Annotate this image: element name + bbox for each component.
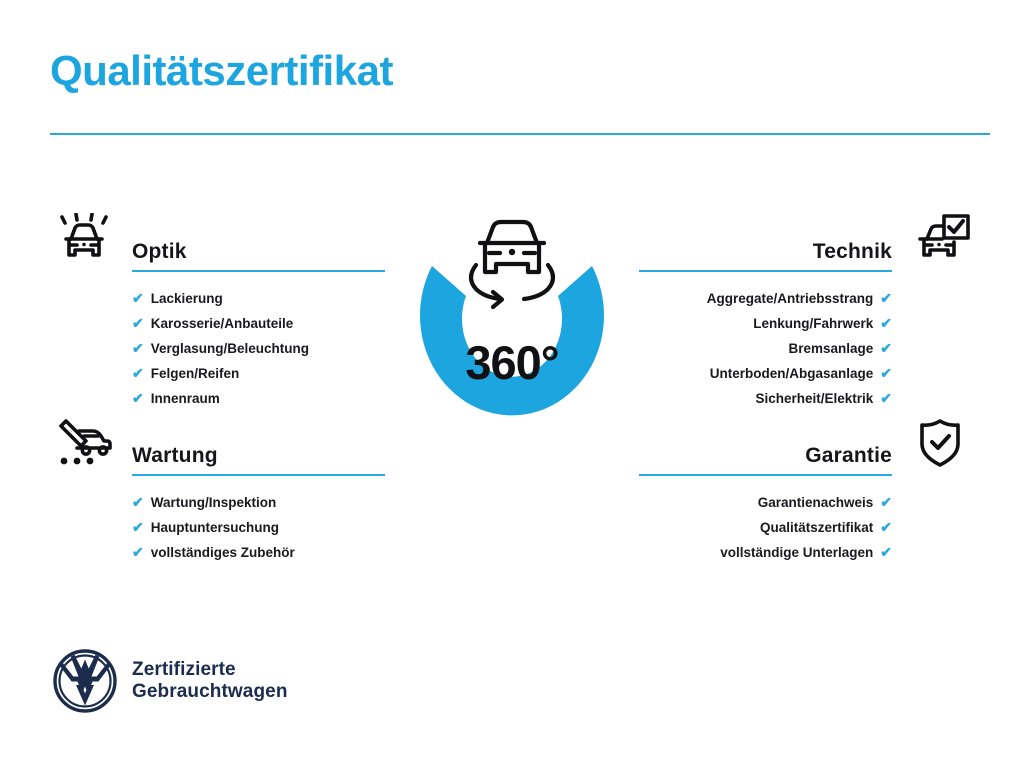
list-item-label: Felgen/Reifen — [151, 362, 240, 386]
list-item: Sicherheit/Elektrik✔ — [639, 386, 892, 411]
section-header-optik: Optik — [45, 208, 385, 272]
car-checkbox-icon — [901, 208, 979, 270]
list-item-label: Innenraum — [151, 387, 220, 411]
list-item-label: Karosserie/Anbauteile — [151, 312, 294, 336]
check-icon: ✔ — [880, 286, 892, 310]
vw-logo-block: Zertifizierte Gebrauchtwagen — [52, 648, 288, 714]
checklist-technik: Aggregate/Antriebsstrang✔ Lenkung/Fahrwe… — [639, 286, 892, 411]
badge-degrees-label: 360° — [372, 335, 652, 390]
title-divider — [50, 133, 990, 135]
list-item-label: Aggregate/Antriebsstrang — [707, 287, 874, 311]
check-icon: ✔ — [880, 311, 892, 335]
list-item: ✔vollständiges Zubehör — [132, 540, 385, 565]
section-heading-wartung: Wartung — [132, 444, 218, 468]
vw-wordmark-line1: Zertifizierte — [132, 659, 288, 681]
section-optik: Optik ✔Lackierung ✔Karosserie/Anbauteile… — [45, 208, 385, 411]
list-item-label: Garantienachweis — [758, 491, 874, 515]
checklist-garantie: Garantienachweis✔ Qualitätszertifikat✔ v… — [639, 490, 892, 565]
360-check-badge: Gebrauchtwagen-Check 360° — [372, 196, 652, 488]
checklist-optik: ✔Lackierung ✔Karosserie/Anbauteile ✔Verg… — [132, 286, 385, 411]
section-header-wartung: Wartung — [45, 412, 385, 476]
list-item: Bremsanlage✔ — [639, 336, 892, 361]
list-item: Aggregate/Antriebsstrang✔ — [639, 286, 892, 311]
list-item-label: Verglasung/Beleuchtung — [151, 337, 309, 361]
section-header-garantie: Garantie — [639, 412, 979, 476]
check-icon: ✔ — [880, 386, 892, 410]
section-technik: Technik Aggregate/Antriebsstrang✔ Lenkun… — [639, 208, 979, 411]
list-item: ✔Felgen/Reifen — [132, 361, 385, 386]
list-item: ✔Innenraum — [132, 386, 385, 411]
section-wartung: Wartung ✔Wartung/Inspektion ✔Hauptunters… — [45, 412, 385, 565]
list-item-label: vollständige Unterlagen — [720, 541, 873, 565]
vw-wordmark: Zertifizierte Gebrauchtwagen — [132, 659, 288, 703]
section-divider-garantie — [639, 474, 892, 476]
list-item: vollständige Unterlagen✔ — [639, 540, 892, 565]
section-heading-technik: Technik — [813, 240, 892, 264]
section-heading-optik: Optik — [132, 240, 187, 264]
vw-wordmark-line2: Gebrauchtwagen — [132, 681, 288, 703]
check-icon: ✔ — [880, 336, 892, 360]
list-item-label: Lenkung/Fahrwerk — [753, 312, 873, 336]
section-heading-garantie: Garantie — [805, 444, 892, 468]
list-item: Qualitätszertifikat✔ — [639, 515, 892, 540]
check-icon: ✔ — [132, 386, 144, 410]
section-garantie: Garantie Garantienachweis✔ Qualitätszert… — [639, 412, 979, 565]
list-item: Garantienachweis✔ — [639, 490, 892, 515]
list-item: Lenkung/Fahrwerk✔ — [639, 311, 892, 336]
list-item: ✔Hauptuntersuchung — [132, 515, 385, 540]
list-item-label: Bremsanlage — [788, 337, 873, 361]
list-item-label: vollständiges Zubehör — [151, 541, 295, 565]
check-icon: ✔ — [132, 336, 144, 360]
list-item: ✔Lackierung — [132, 286, 385, 311]
list-item: ✔Wartung/Inspektion — [132, 490, 385, 515]
check-icon: ✔ — [132, 311, 144, 335]
list-item-label: Sicherheit/Elektrik — [755, 387, 873, 411]
section-header-technik: Technik — [639, 208, 979, 272]
checklist-wartung: ✔Wartung/Inspektion ✔Hauptuntersuchung ✔… — [132, 490, 385, 565]
shield-check-icon — [901, 412, 979, 474]
list-item-label: Hauptuntersuchung — [151, 516, 279, 540]
check-icon: ✔ — [880, 515, 892, 539]
vw-logo — [52, 648, 118, 714]
list-item-label: Unterboden/Abgasanlage — [710, 362, 874, 386]
list-item: ✔Verglasung/Beleuchtung — [132, 336, 385, 361]
check-icon: ✔ — [132, 361, 144, 385]
check-icon: ✔ — [132, 490, 144, 514]
section-divider-wartung — [132, 474, 385, 476]
check-icon: ✔ — [880, 361, 892, 385]
list-item: Unterboden/Abgasanlage✔ — [639, 361, 892, 386]
car-rotate-icon — [471, 222, 553, 307]
car-lift-service-icon — [45, 412, 123, 474]
check-icon: ✔ — [132, 540, 144, 564]
check-icon: ✔ — [132, 515, 144, 539]
list-item: ✔Karosserie/Anbauteile — [132, 311, 385, 336]
section-divider-technik — [639, 270, 892, 272]
list-item-label: Lackierung — [151, 287, 223, 311]
list-item-label: Qualitätszertifikat — [760, 516, 873, 540]
car-shine-icon — [45, 208, 123, 270]
list-item-label: Wartung/Inspektion — [151, 491, 277, 515]
page-title: Qualitätszertifikat — [50, 48, 393, 94]
check-icon: ✔ — [880, 490, 892, 514]
check-icon: ✔ — [132, 286, 144, 310]
check-icon: ✔ — [880, 540, 892, 564]
section-divider-optik — [132, 270, 385, 272]
